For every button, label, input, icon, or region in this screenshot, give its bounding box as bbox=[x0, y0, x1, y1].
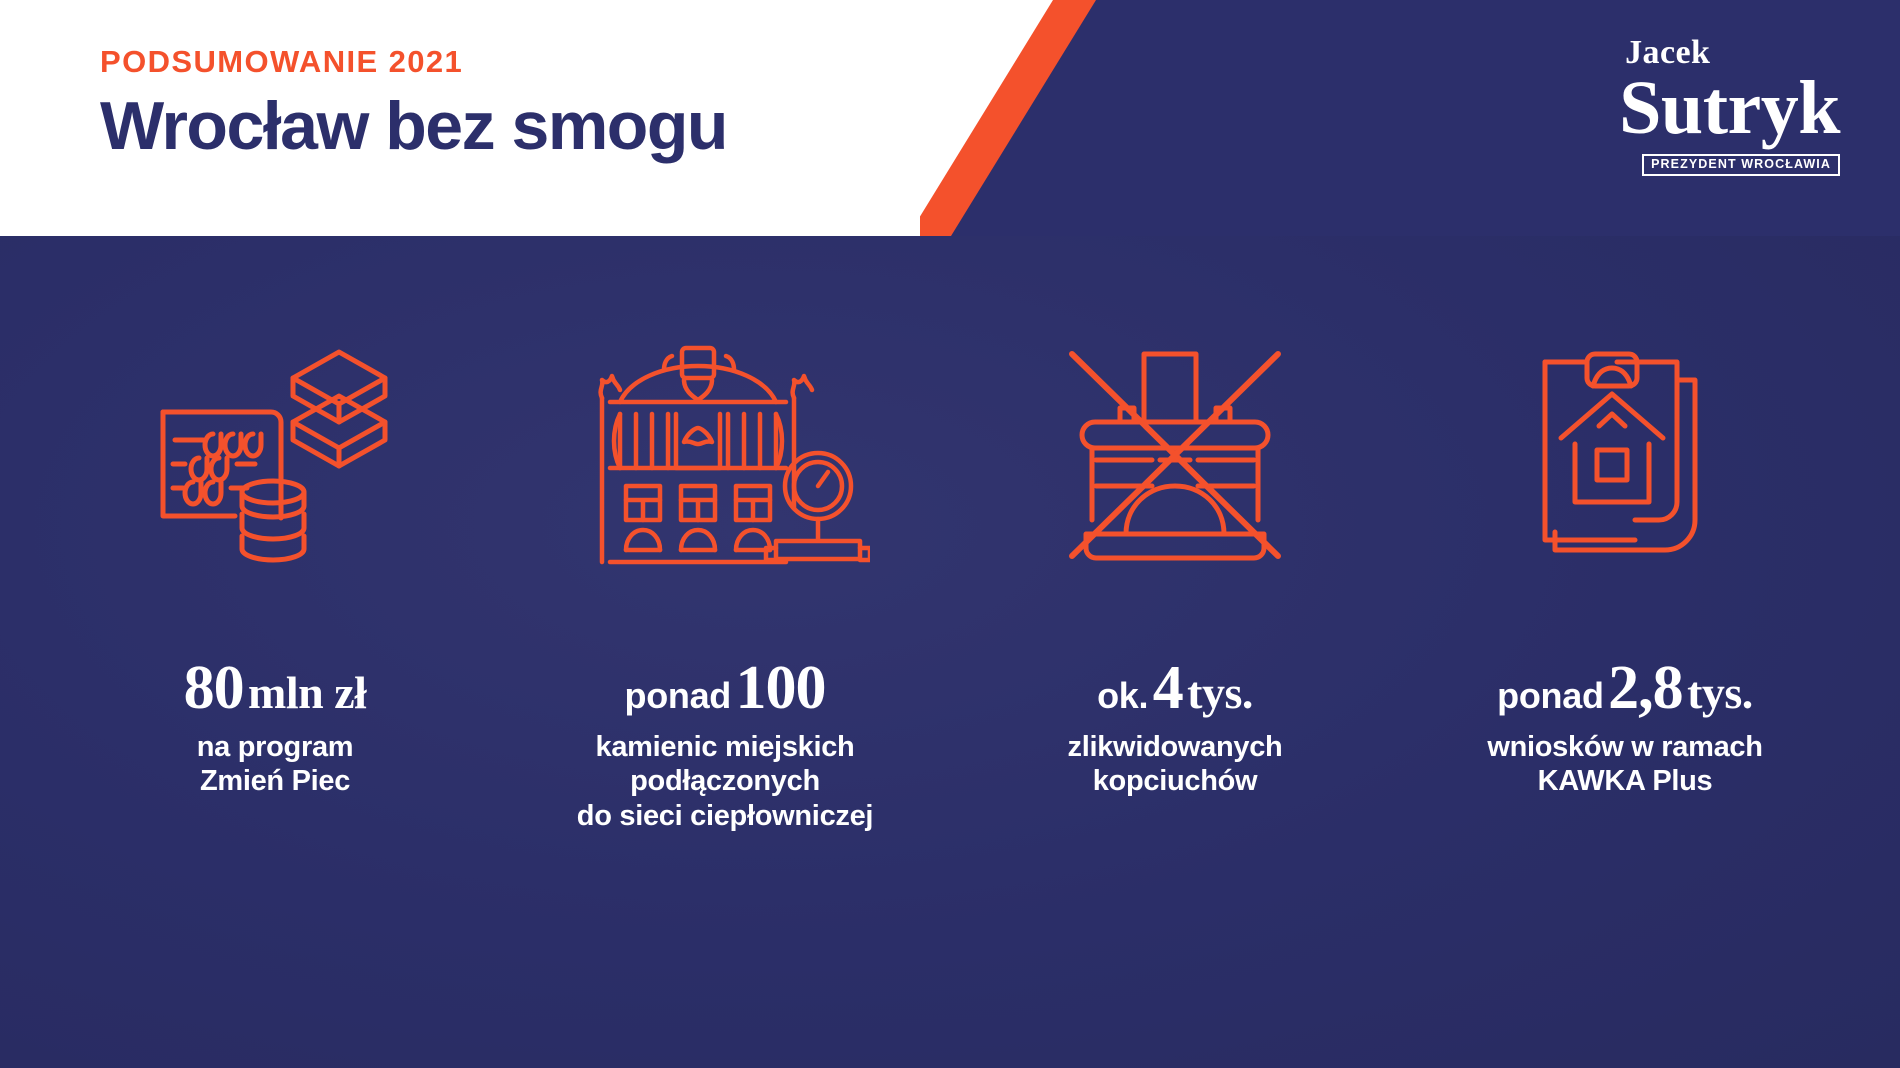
stat-prefix: ponad bbox=[1497, 675, 1603, 716]
stat-icon-slot bbox=[1060, 331, 1290, 581]
stat-prefix: ponad bbox=[625, 675, 731, 716]
stat-card-kamienice: ponad 100 kamienic miejskich podłączonyc… bbox=[510, 331, 940, 833]
stat-description-line: zlikwidowanych bbox=[1068, 730, 1283, 764]
stat-description-line: Zmień Piec bbox=[184, 764, 367, 798]
stat-value: ponad 100 bbox=[577, 657, 873, 720]
stat-value: 80 mln zł bbox=[184, 657, 367, 720]
stat-unit: tys. bbox=[1687, 667, 1753, 718]
stat-description: wniosków w ramach KAWKA Plus bbox=[1487, 730, 1762, 798]
stat-text-block: ponad 100 kamienic miejskich podłączonyc… bbox=[577, 657, 873, 833]
stat-text-block: ponad 2,8 tys. wniosków w ramach KAWKA P… bbox=[1487, 657, 1762, 799]
stat-icon-slot bbox=[1525, 331, 1725, 581]
stat-number: 80 bbox=[184, 654, 244, 722]
document-coins-insulation-icon bbox=[145, 346, 405, 566]
stat-description-line: wniosków w ramach bbox=[1487, 730, 1762, 764]
stat-card-kopciuchy: ok. 4 tys. zlikwidowanych kopciuchów bbox=[960, 331, 1390, 799]
header-kicker: PODSUMOWANIE 2021 bbox=[100, 46, 727, 77]
stat-number: 4 bbox=[1153, 654, 1183, 722]
logo-first-name: Jacek bbox=[1619, 36, 1840, 70]
stat-value: ponad 2,8 tys. bbox=[1487, 657, 1762, 720]
stat-description-line: do sieci ciepłowniczej bbox=[577, 799, 873, 833]
header-text-group: PODSUMOWANIE 2021 Wrocław bez smogu bbox=[100, 46, 727, 162]
crossed-out-coal-stove-icon bbox=[1060, 344, 1290, 569]
stat-description-line: na program bbox=[184, 730, 367, 764]
brand-logo: Jacek Sutryk PREZYDENT WROCŁAWIA bbox=[1619, 36, 1840, 176]
stat-description: kamienic miejskich podłączonych do sieci… bbox=[577, 730, 873, 833]
page-header: PODSUMOWANIE 2021 Wrocław bez smogu Jace… bbox=[0, 0, 1900, 236]
stat-icon-slot bbox=[580, 331, 870, 581]
stat-description: zlikwidowanych kopciuchów bbox=[1068, 730, 1283, 798]
stat-description-line: KAWKA Plus bbox=[1487, 764, 1762, 798]
stat-description-line: podłączonych bbox=[577, 764, 873, 798]
stat-card-zmien-piec: 80 mln zł na program Zmień Piec bbox=[60, 331, 490, 799]
stat-text-block: ok. 4 tys. zlikwidowanych kopciuchów bbox=[1068, 657, 1283, 799]
stat-card-kawka-plus: ponad 2,8 tys. wniosków w ramach KAWKA P… bbox=[1410, 331, 1840, 799]
stat-icon-slot bbox=[145, 331, 405, 581]
stat-number: 2,8 bbox=[1608, 654, 1683, 722]
tenement-building-heat-meter-icon bbox=[580, 336, 870, 576]
stat-value: ok. 4 tys. bbox=[1068, 657, 1283, 720]
stat-text-block: 80 mln zł na program Zmień Piec bbox=[184, 657, 367, 799]
stat-unit: mln zł bbox=[248, 667, 366, 718]
stat-prefix: ok. bbox=[1097, 675, 1148, 716]
stats-board: 80 mln zł na program Zmień Piec bbox=[0, 236, 1900, 1068]
page-title: Wrocław bez smogu bbox=[100, 91, 727, 162]
logo-role-badge: PREZYDENT WROCŁAWIA bbox=[1642, 154, 1840, 176]
application-documents-house-icon bbox=[1525, 344, 1725, 569]
logo-last-name: Sutryk bbox=[1619, 72, 1840, 144]
stat-description-line: kamienic miejskich bbox=[577, 730, 873, 764]
stat-number: 100 bbox=[735, 654, 825, 722]
stat-unit: tys. bbox=[1187, 667, 1253, 718]
stat-description-line: kopciuchów bbox=[1068, 764, 1283, 798]
stats-row: 80 mln zł na program Zmień Piec bbox=[0, 331, 1900, 833]
stat-description: na program Zmień Piec bbox=[184, 730, 367, 798]
